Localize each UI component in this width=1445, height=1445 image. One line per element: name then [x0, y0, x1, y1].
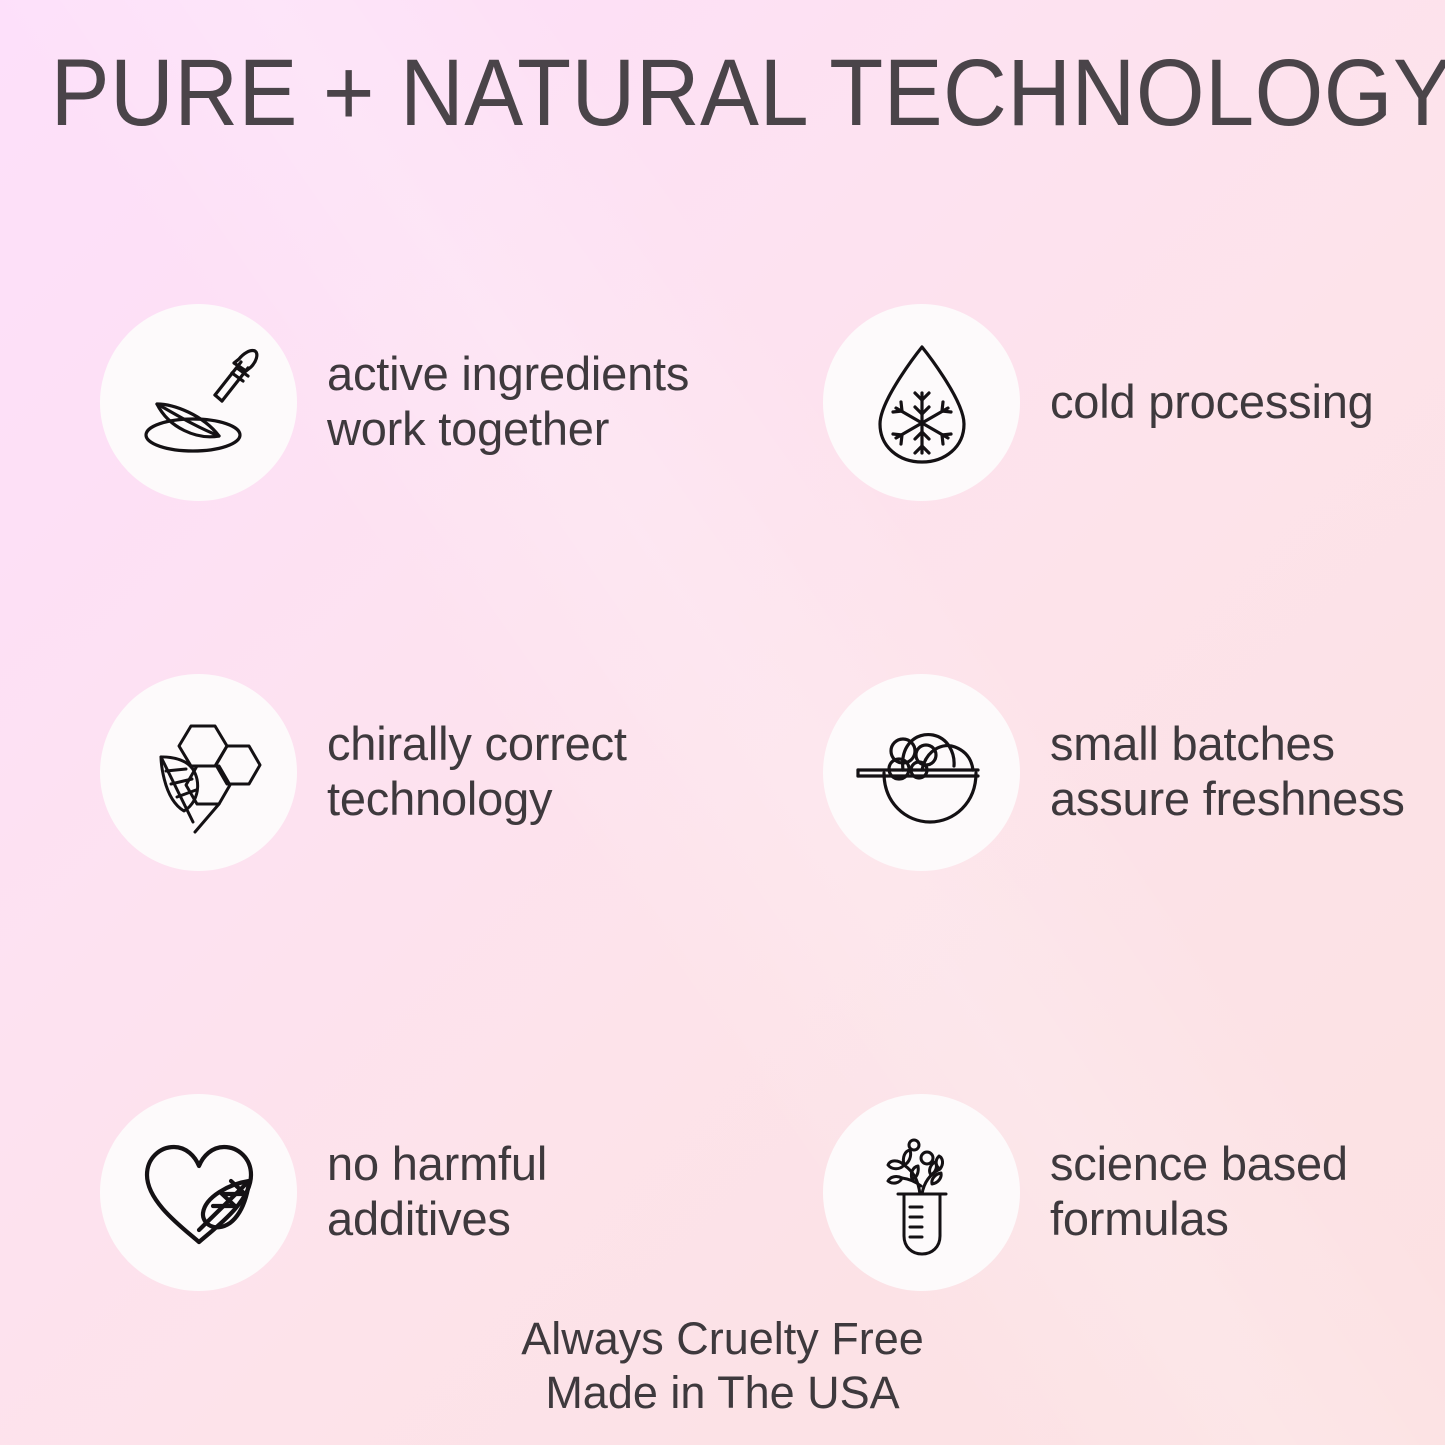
feature-label: no harmful additives — [327, 1137, 547, 1247]
water-drop-snowflake-icon — [852, 332, 992, 472]
icon-disc — [823, 674, 1020, 871]
feature-item-chirally-correct: chirally correct technology — [100, 666, 740, 878]
icon-disc — [100, 1094, 297, 1291]
icon-disc — [100, 304, 297, 501]
heart-leaf-icon — [125, 1118, 273, 1266]
feature-item-science-based: science based formulas — [823, 1086, 1433, 1298]
feature-item-active-ingredients: active ingredients work together — [100, 296, 740, 508]
hexagon-leaf-icon — [129, 702, 269, 842]
test-tube-plant-icon — [852, 1122, 992, 1262]
feature-label: chirally correct technology — [327, 717, 627, 827]
icon-disc — [100, 674, 297, 871]
feature-item-no-harmful-additives: no harmful additives — [100, 1086, 740, 1298]
feature-label: active ingredients work together — [327, 347, 689, 457]
feature-item-cold-processing: cold processing — [823, 296, 1433, 508]
bowl-berries-icon — [848, 698, 996, 846]
infographic-page: PURE + NATURAL TECHNOLOGY — [0, 0, 1445, 1445]
dropper-leaf-icon — [129, 332, 269, 472]
footer-text: Always Cruelty Free Made in The USA — [0, 1312, 1445, 1420]
feature-item-small-batches: small batches assure freshness — [823, 666, 1433, 878]
icon-disc — [823, 304, 1020, 501]
feature-label: science based formulas — [1050, 1137, 1348, 1247]
page-title: PURE + NATURAL TECHNOLOGY — [51, 44, 1395, 144]
icon-disc — [823, 1094, 1020, 1291]
feature-grid: active ingredients work together — [0, 278, 1445, 1298]
feature-label: cold processing — [1050, 375, 1374, 430]
feature-label: small batches assure freshness — [1050, 717, 1405, 827]
